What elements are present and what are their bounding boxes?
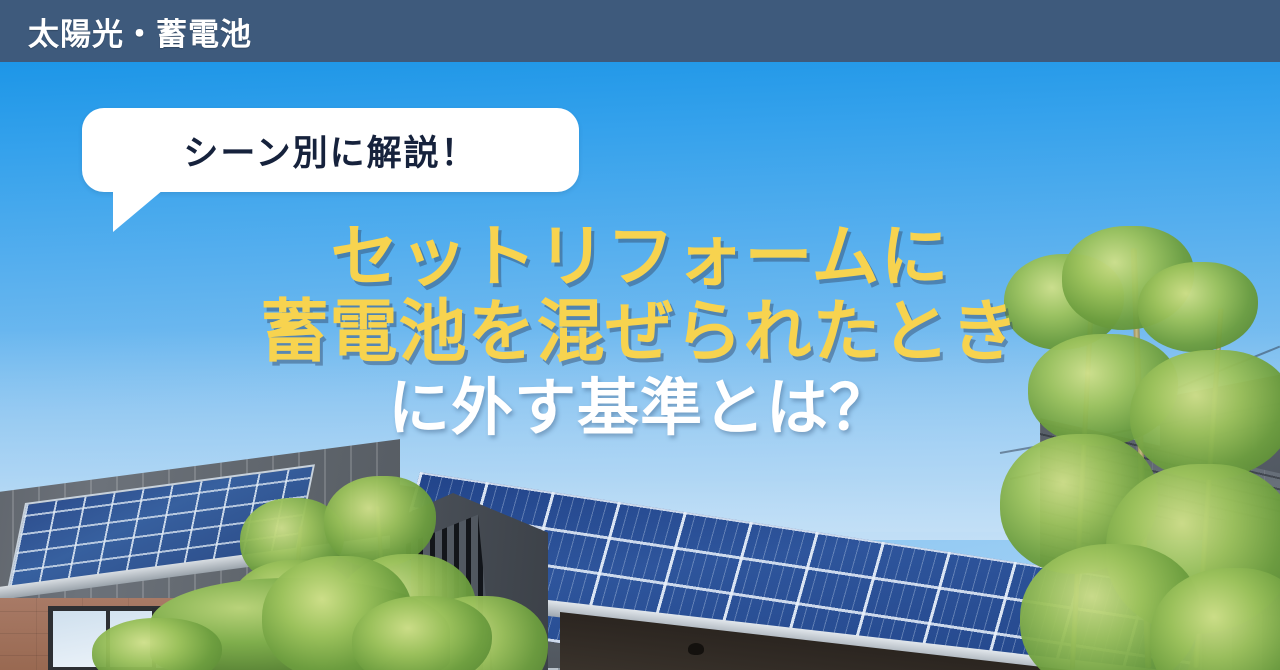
headline-line-3: に外す基準とは？ bbox=[0, 377, 1280, 441]
header-bar: 太陽光・蓄電池 bbox=[0, 0, 1280, 62]
callout-bubble: シーン別に解説！ bbox=[82, 108, 579, 192]
header-title: 太陽光・蓄電池 bbox=[28, 9, 252, 54]
banner-image: 太陽光・蓄電池 シーン別に解説！ セットリフォームに 蓄電池を混ぜられたとき に… bbox=[0, 0, 1280, 670]
callout-bubble-label: シーン別に解説！ bbox=[183, 125, 477, 176]
headline-line-2: 蓄電池を混ぜられたとき bbox=[0, 297, 1280, 368]
foliage-clump bbox=[352, 596, 492, 670]
exterior-light bbox=[688, 643, 704, 655]
headline-line-1: セットリフォームに bbox=[0, 222, 1280, 293]
headline-block: セットリフォームに 蓄電池を混ぜられたとき に外す基準とは？ bbox=[0, 222, 1280, 442]
